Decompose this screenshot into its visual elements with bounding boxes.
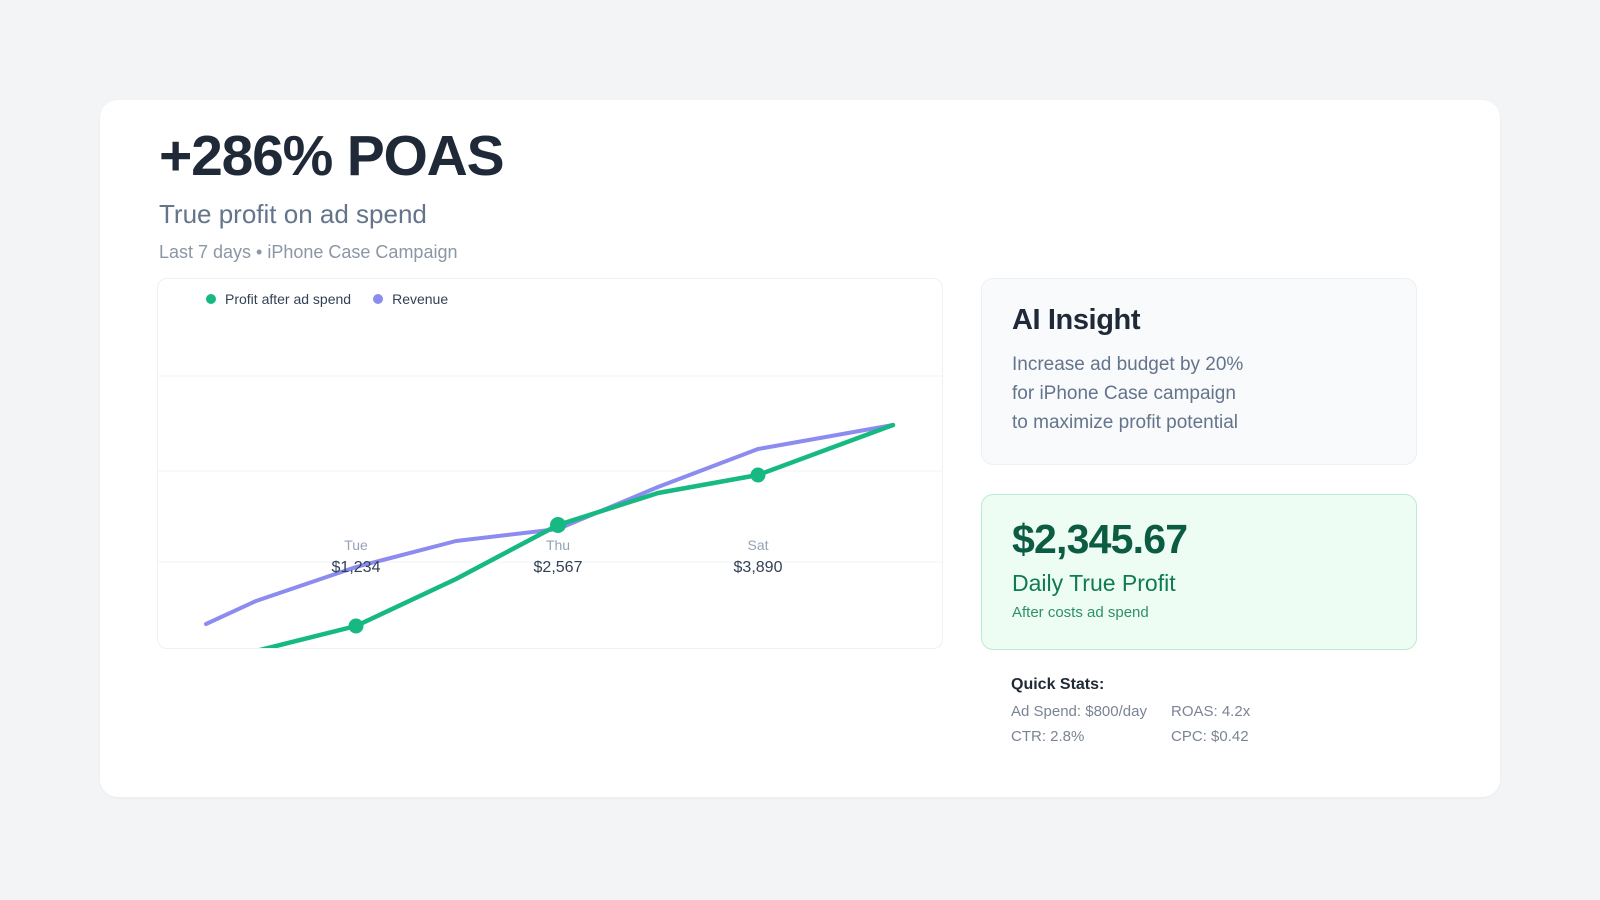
- ai-insight-title: AI Insight: [1012, 305, 1386, 337]
- quick-stats-section: Quick Stats: Ad Spend: $800/day ROAS: 4.…: [981, 675, 1417, 746]
- ai-insight-line-2: for iPhone Case campaign: [1012, 380, 1386, 409]
- right-column: AI Insight Increase ad budget by 20% for…: [981, 278, 1417, 746]
- header-block: +286% POAS True profit on ad spend Last …: [159, 126, 503, 263]
- quick-stats-title: Quick Stats:: [1011, 675, 1417, 694]
- page-title: +286% POAS: [159, 126, 503, 188]
- series-markers-profit: [349, 468, 766, 634]
- profit-sublabel: After costs ad spend: [1012, 604, 1386, 622]
- ai-insight-line-1: Increase ad budget by 20%: [1012, 351, 1386, 380]
- series-line-profit: [206, 425, 893, 649]
- chart-panel: Profit after ad spend Revenue: [157, 278, 943, 649]
- page-root: +286% POAS True profit on ad spend Last …: [0, 0, 1600, 900]
- data-point-marker: [349, 619, 364, 634]
- stat-roas: ROAS: 4.2x: [1171, 703, 1417, 721]
- data-point-marker: [550, 517, 566, 533]
- quick-stats-grid: Ad Spend: $800/day ROAS: 4.2x CTR: 2.8% …: [1011, 703, 1417, 746]
- daily-profit-card: $2,345.67 Daily True Profit After costs …: [981, 494, 1417, 650]
- profit-label: Daily True Profit: [1012, 570, 1386, 598]
- line-chart: [158, 279, 943, 649]
- profit-amount: $2,345.67: [1012, 517, 1386, 562]
- data-point-marker: [751, 468, 766, 483]
- page-meta: Last 7 days • iPhone Case Campaign: [159, 242, 503, 264]
- chart-gridlines: [158, 376, 943, 562]
- main-card: +286% POAS True profit on ad spend Last …: [100, 100, 1500, 797]
- ai-insight-line-3: to maximize profit potential: [1012, 409, 1386, 438]
- ai-insight-card: AI Insight Increase ad budget by 20% for…: [981, 278, 1417, 465]
- stat-ad-spend: Ad Spend: $800/day: [1011, 703, 1171, 721]
- page-subtitle: True profit on ad spend: [159, 199, 503, 230]
- stat-cpc: CPC: $0.42: [1171, 728, 1417, 746]
- stat-ctr: CTR: 2.8%: [1011, 728, 1171, 746]
- series-line-revenue: [206, 425, 893, 624]
- ai-insight-body: Increase ad budget by 20% for iPhone Cas…: [1012, 351, 1386, 438]
